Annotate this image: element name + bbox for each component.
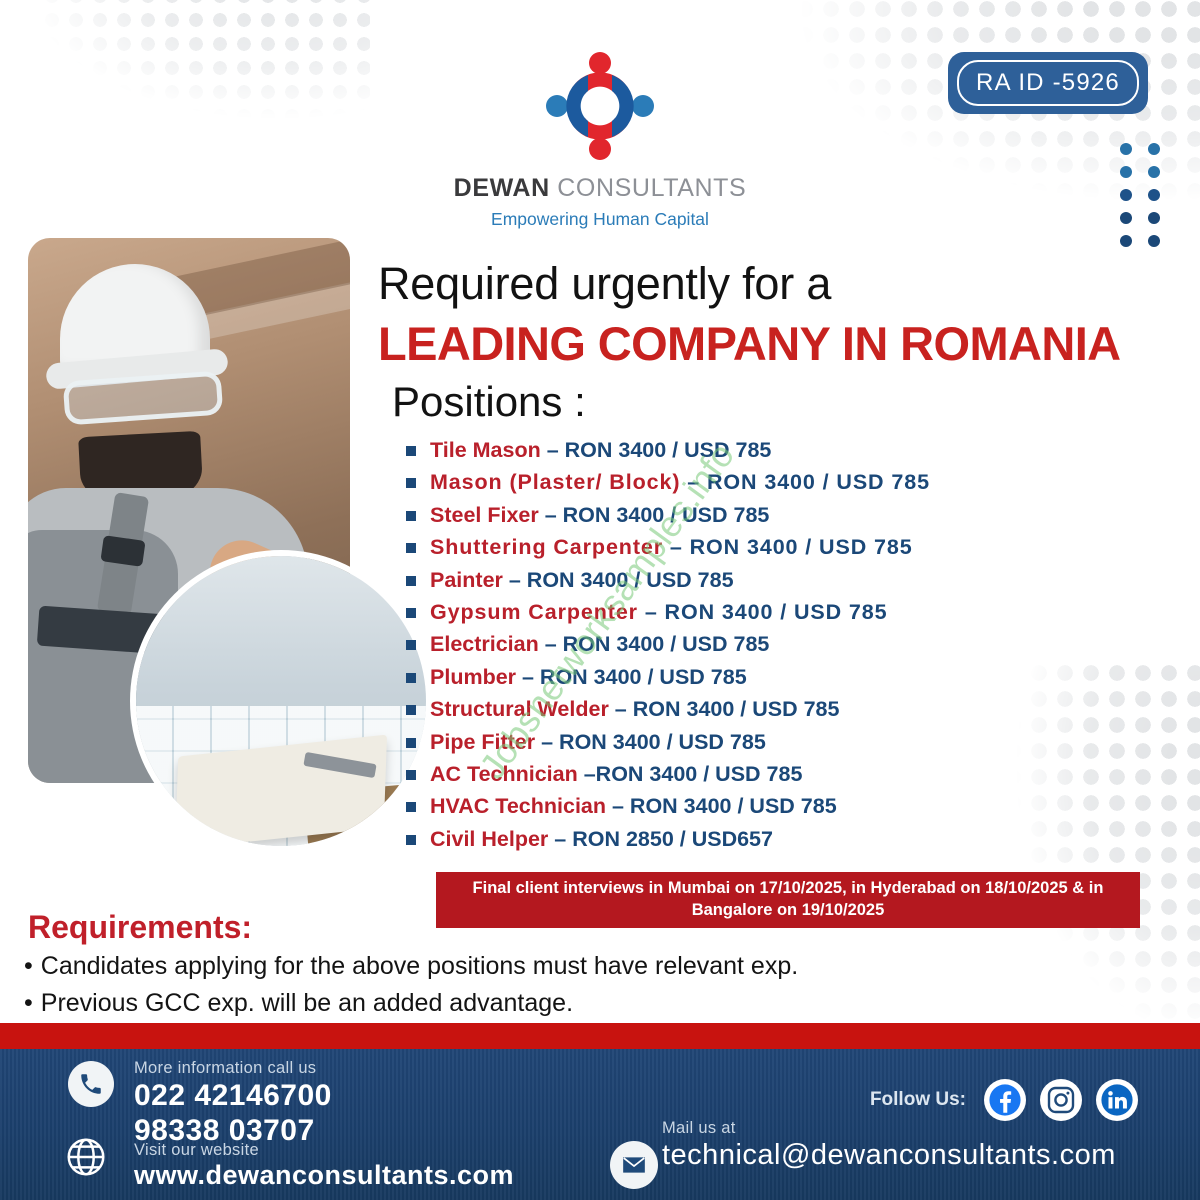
position-salary: – RON 3400 / USD 785 [680,470,930,494]
position-item: Shuttering Carpenter – RON 3400 / USD 78… [406,531,1042,563]
phone-number-1[interactable]: 022 42146700 [134,1078,332,1113]
position-role: Civil Helper [430,827,548,851]
email-address[interactable]: technical@dewanconsultants.com [662,1138,1116,1172]
facebook-icon[interactable] [984,1079,1026,1121]
requirement-item: Previous GCC exp. will be an added advan… [24,985,784,1022]
position-salary: – RON 3400 / USD 785 [535,730,766,754]
position-role: Painter [430,568,503,592]
position-salary: –RON 3400 / USD 785 [578,762,803,786]
position-item: Electrician – RON 3400 / USD 785 [406,628,1042,660]
position-item: HVAC Technician – RON 3400 / USD 785 [406,790,1042,822]
position-salary: – RON 3400 / USD 785 [503,568,734,592]
blue-dot-grid-decoration [1120,143,1162,249]
position-salary: – RON 2850 / USD657 [548,827,773,851]
mail-block: Mail us at technical@dewanconsultants.co… [600,1119,1116,1172]
headline-line-2: LEADING COMPANY IN ROMANIA [378,316,1121,371]
position-item: AC Technician –RON 3400 / USD 785 [406,758,1042,790]
worker-photo-circle-inset [136,556,426,846]
position-item: Pipe Fitter – RON 3400 / USD 785 [406,726,1042,758]
position-salary: – RON 3400 / USD 785 [638,600,888,624]
position-salary: – RON 3400 / USD 785 [539,632,770,656]
requirements-list: Candidates applying for the above positi… [24,948,784,1022]
positions-list: Tile Mason – RON 3400 / USD 785Mason (Pl… [406,434,1042,855]
brand-name-bold: DEWAN [454,174,550,202]
position-role: Mason (Plaster/ Block) [430,470,680,494]
position-role: Shuttering Carpenter [430,535,663,559]
four-people-circle-logo-icon [540,46,660,166]
position-item: Mason (Plaster/ Block) – RON 3400 / USD … [406,466,1042,498]
footer: More information call us 022 42146700 98… [0,1049,1200,1200]
headline-line-1: Required urgently for a [378,258,831,310]
position-item: Tile Mason – RON 3400 / USD 785 [406,434,1042,466]
interview-schedule-banner: Final client interviews in Mumbai on 17/… [436,872,1140,928]
position-role: AC Technician [430,762,578,786]
envelope-icon [610,1141,658,1189]
worker-photo [28,238,380,846]
brand-name: DEWAN CONSULTANTS [0,174,1200,203]
position-item: Painter – RON 3400 / USD 785 [406,564,1042,596]
position-role: Plumber [430,665,516,689]
position-role: Structural Welder [430,697,609,721]
ra-id-badge: RA ID -5926 [948,52,1148,114]
position-salary: – RON 3400 / USD 785 [609,697,840,721]
ra-id-value: RA ID -5926 [957,60,1139,106]
position-item: Gypsum Carpenter – RON 3400 / USD 785 [406,596,1042,628]
brand-tagline: Empowering Human Capital [0,209,1200,230]
position-salary: – RON 3400 / USD 785 [539,503,770,527]
position-salary: – RON 3400 / USD 785 [663,535,913,559]
position-role: Pipe Fitter [430,730,535,754]
position-salary: – RON 3400 / USD 785 [516,665,747,689]
position-item: Structural Welder – RON 3400 / USD 785 [406,693,1042,725]
call-label: More information call us [134,1059,332,1078]
follow-us-label: Follow Us: [870,1089,966,1111]
position-role: HVAC Technician [430,794,606,818]
red-divider-band [0,1023,1200,1049]
requirements-title: Requirements: [28,909,252,946]
position-item: Plumber – RON 3400 / USD 785 [406,661,1042,693]
mail-label: Mail us at [662,1119,1116,1138]
globe-icon [60,1131,112,1183]
website-label: Visit our website [134,1141,514,1160]
position-role: Electrician [430,632,539,656]
website-block: Visit our website www.dewanconsultants.c… [134,1141,514,1192]
position-item: Civil Helper – RON 2850 / USD657 [406,823,1042,855]
position-role: Tile Mason [430,438,541,462]
positions-label: Positions : [392,378,586,426]
position-role: Steel Fixer [430,503,539,527]
call-block: More information call us 022 42146700 98… [134,1059,332,1149]
linkedin-icon[interactable] [1096,1079,1138,1121]
position-role: Gypsum Carpenter [430,600,638,624]
recruitment-poster: DEWAN CONSULTANTS Empowering Human Capit… [0,0,1200,1200]
follow-us-block: Follow Us: [870,1079,1138,1121]
brand-name-light: CONSULTANTS [557,174,746,202]
instagram-icon[interactable] [1040,1079,1082,1121]
position-salary: – RON 3400 / USD 785 [541,438,772,462]
phone-icon [68,1061,114,1107]
requirement-item: Candidates applying for the above positi… [24,948,784,985]
website-url[interactable]: www.dewanconsultants.com [134,1160,514,1192]
position-salary: – RON 3400 / USD 785 [606,794,837,818]
position-item: Steel Fixer – RON 3400 / USD 785 [406,499,1042,531]
